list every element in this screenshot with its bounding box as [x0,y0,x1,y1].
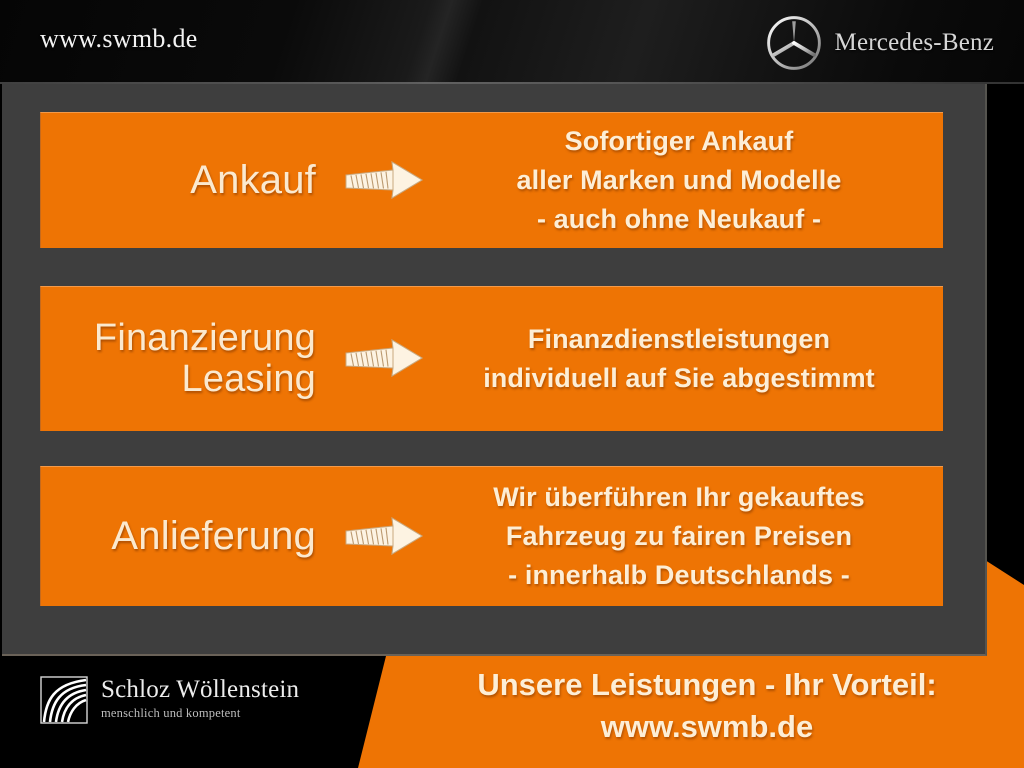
service-text-ankauf: Sofortiger Ankauf aller Marken und Model… [441,122,943,239]
service-label-finanzierung-leasing: Finanzierung Leasing [41,318,326,400]
mercedes-benz-wordmark: Mercedes-Benz [835,29,994,57]
header-bar: www.swmb.de [0,0,1024,84]
sketch-arrow-right-icon [326,337,441,381]
schloz-woellenstein-arc-icon [40,676,88,724]
service-text-finanzierung-leasing: Finanzdienstleistungen individuell auf S… [441,320,943,398]
service-text-line: Fahrzeug zu fairen Preisen [441,517,917,556]
service-label-anlieferung: Anlieferung [41,515,326,558]
footer-url[interactable]: www.swmb.de [400,706,1014,748]
service-text-line: aller Marken und Modelle [441,161,917,200]
service-text-line: - innerhalb Deutschlands - [441,556,917,595]
service-text-line: Wir überführen Ihr gekauftes [441,478,917,517]
dealer-name: Schloz Wöllenstein [101,676,299,703]
service-text-line: individuell auf Sie abgestimmt [441,359,917,398]
schloz-woellenstein-logo: Schloz Wöllenstein menschlich und kompet… [40,676,299,724]
header-site-url: www.swmb.de [40,24,198,54]
service-text-line: - auch ohne Neukauf - [441,200,917,239]
service-row-finanzierung-leasing[interactable]: Finanzierung Leasing Finanzdie [40,286,943,431]
schloz-woellenstein-wordmark: Schloz Wöllenstein menschlich und kompet… [101,676,299,721]
sketch-arrow-right-icon [326,515,441,559]
service-label-line: Leasing [41,359,316,400]
service-row-ankauf[interactable]: Ankauf Sofortiger Ankauf aller Mark [40,112,943,248]
mercedes-benz-logo: Mercedes-Benz [765,14,994,72]
service-label-line: Finanzierung [41,318,316,359]
slide-canvas: www.swmb.de [0,0,1024,768]
footer-callout: Unsere Leistungen - Ihr Vorteil: www.swm… [400,664,1014,748]
footer-headline: Unsere Leistungen - Ihr Vorteil: [400,664,1014,706]
mercedes-star-icon [765,14,823,72]
service-text-line: Sofortiger Ankauf [441,122,917,161]
service-label-ankauf: Ankauf [41,159,326,202]
service-text-line: Finanzdienstleistungen [441,320,917,359]
sketch-arrow-right-icon [326,159,441,203]
dealer-tagline: menschlich und kompetent [101,706,299,721]
service-row-anlieferung[interactable]: Anlieferung Wir überführen Ihr gekauftes [40,466,943,606]
service-text-anlieferung: Wir überführen Ihr gekauftes Fahrzeug zu… [441,478,943,595]
